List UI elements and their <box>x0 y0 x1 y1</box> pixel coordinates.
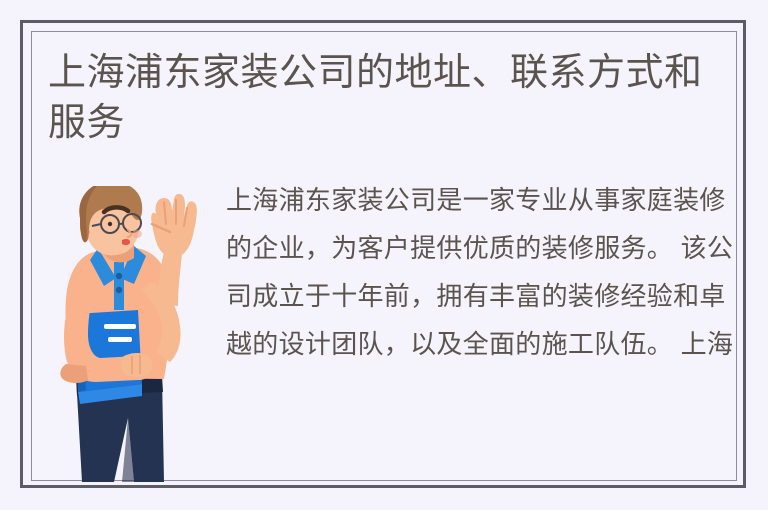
page-root: 上海浦东家装公司的地址、联系方式和服务 <box>0 0 768 510</box>
illustration-man-waving <box>42 186 218 482</box>
article-body: 上海浦东家装公司是一家专业从事家庭装修的企业，为客户提供优质的装修服务。 该公司… <box>226 176 734 368</box>
page-title: 上海浦东家装公司的地址、联系方式和服务 <box>48 48 736 148</box>
head-group <box>79 186 142 262</box>
man-waving-illustration-svg <box>42 186 218 482</box>
